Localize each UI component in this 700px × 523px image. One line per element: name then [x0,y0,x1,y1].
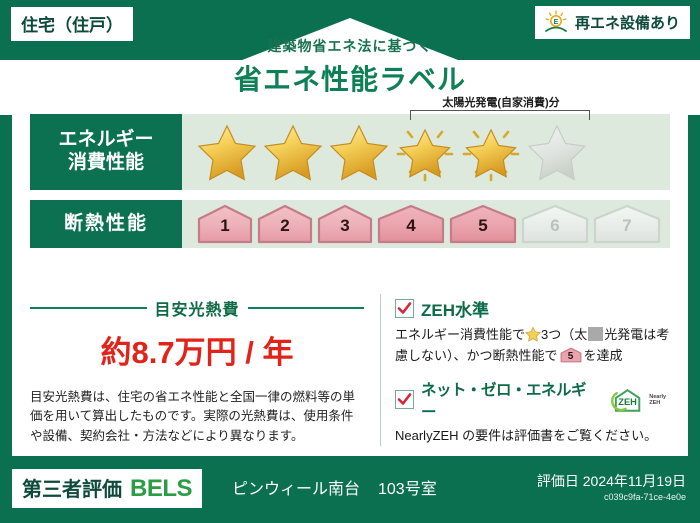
energy-performance-label: 住宅（住戸） E 再エネ設備あり 建築物省エネ法に基づく 省エネ性能ラベル [0,0,700,523]
net-zero-check-line: ネット・ゼロ・エネルギー ZEH Nearly ZEH [395,378,678,422]
label-title-block: 建築物省エネ法に基づく 省エネ性能ラベル [0,36,700,98]
building-name: ピンウィール南台 [232,475,360,499]
insulation-level-number: 1 [196,216,254,236]
lower-content: 目安光熱費 約8.7万円 / 年 目安光熱費は、住宅の省エネ性能と全国一律の燃料… [12,290,688,456]
insulation-level-7: 7 [592,204,662,244]
star-icon-filled-2 [262,122,324,182]
star-rating [182,122,588,182]
insulation-level-number: 4 [376,216,446,236]
insulation-level-1: 1 [196,204,254,244]
star-icon-filled-3 [328,122,390,182]
insulation-level-5: 5 [448,204,518,244]
insulation-level-number: 7 [592,216,662,236]
zeh-standard-check-line: ZEH水準 [395,296,678,321]
housing-type-tag: 住宅（住戸） [10,6,134,42]
insulation-label-box: 断熱性能 [30,200,182,248]
zeh-logo: ZEH Nearly ZEH [608,387,678,413]
label-body-panel: エネルギー 消費性能 太陽光発電(自家消費)分 [12,106,688,456]
label-footer: 第三者評価 BELS ピンウィール南台 103号室 評価日 2024年11月19… [0,461,700,523]
utility-cost-heading: 目安光熱費 [30,296,364,320]
inline-house-level-icon: 5 [560,347,582,363]
insulation-level-number: 2 [256,216,314,236]
bels-logo-text: BELS [130,475,192,503]
zeh-body-star-count: 3つ（太 [541,327,587,342]
energy-stars-area: 太陽光発電(自家消費)分 [182,114,670,190]
heading-rule-right [248,307,365,309]
inline-star-icon [525,326,541,342]
insulation-level-number: 3 [316,216,374,236]
zeh-standard-body: エネルギー消費性能で 3つ（太光発電は考慮しない）、かつ断熱性能で 5 を達成 [395,324,678,367]
check-icon [397,392,412,407]
energy-performance-label-box: エネルギー 消費性能 [30,114,182,190]
star-icon-filled-solar-4 [394,122,456,182]
utility-cost-title: 目安光熱費 [155,296,240,320]
evaluation-id: c039c9fa-71ce-4e0e [604,492,686,502]
svg-text:E: E [554,19,559,26]
zeh-body-part1: エネルギー消費性能で [395,327,525,342]
zeh-logo-sub: Nearly ZEH [649,394,678,406]
room-number: 103号室 [378,475,437,499]
evaluation-date: 評価日 2024年11月19日 [537,471,686,491]
label-title: 省エネ性能ラベル [0,58,700,98]
check-icon [397,301,412,316]
energy-label-line2: 消費性能 [58,152,153,175]
insulation-performance-row: 断熱性能 1 [30,200,670,248]
insulation-level-6: 6 [520,204,590,244]
sun-icon: E [543,10,569,34]
zeh-body-part3: を達成 [584,348,623,363]
insulation-level-number: 5 [448,216,518,236]
zeh-standard-title: ZEH水準 [421,296,489,321]
energy-label-line1: エネルギー [58,129,153,152]
svg-text:ZEH: ZEH [618,397,637,407]
insulation-levels-area: 1 2 3 [182,200,670,248]
star-icon-filled-1 [196,122,258,182]
net-zero-title: ネット・ゼロ・エネルギー [421,378,597,422]
utility-cost-description: 目安光熱費は、住宅の省エネ性能と全国一律の燃料等の単価を用いて算出したものです。… [30,388,364,446]
solar-power-bracket [410,110,590,120]
utility-cost-section: 目安光熱費 約8.7万円 / 年 目安光熱費は、住宅の省エネ性能と全国一律の燃料… [12,290,380,456]
net-zero-body: NearlyZEH の要件は評価書をご覧ください。 [395,425,678,446]
third-party-label: 第三者評価 [22,473,122,502]
heading-rule-left [30,307,147,309]
insulation-level-3: 3 [316,204,374,244]
net-zero-checkbox [395,390,414,409]
zeh-section: ZEH水準 エネルギー消費性能で 3つ（太光発電は考慮しない）、かつ断熱性能で … [381,290,688,456]
renewable-energy-badge: E 再エネ設備あり [535,6,690,39]
inline-house-level-number: 5 [560,349,582,366]
insulation-level-scale: 1 2 3 [182,204,662,244]
insulation-level-number: 6 [520,216,590,236]
sun-icon-svg: E [543,10,569,34]
utility-cost-value: 約8.7万円 / 年 [30,327,364,372]
zeh-house-logo-icon: ZEH [608,387,647,413]
renewable-badge-label: 再エネ設備あり [575,12,680,33]
redacted-character [588,327,603,341]
insulation-level-2: 2 [256,204,314,244]
insulation-level-4: 4 [376,204,446,244]
energy-performance-row: エネルギー 消費性能 太陽光発電(自家消費)分 [30,114,670,190]
star-icon-filled-solar-5 [460,122,522,182]
bels-plate: 第三者評価 BELS [12,469,202,508]
zeh-standard-checkbox [395,299,414,318]
star-icon-empty-6 [526,122,588,182]
